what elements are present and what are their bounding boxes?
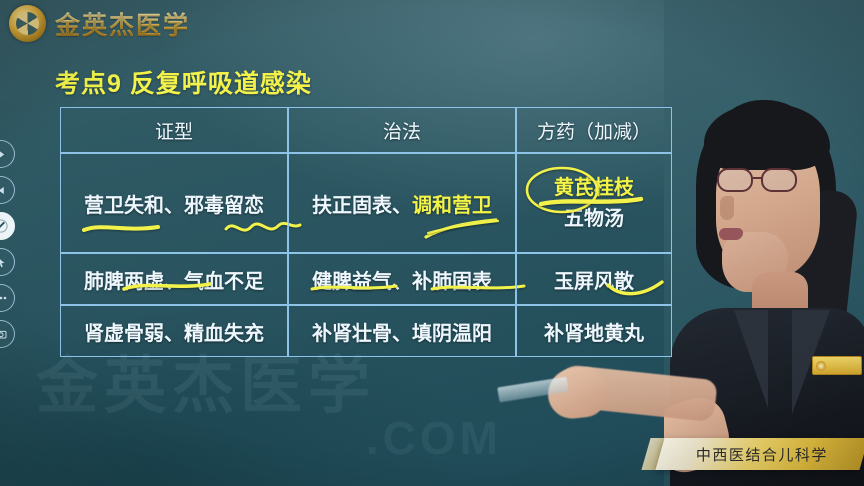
cell-therapy-3: 补肾壮骨、填阴温阳	[288, 305, 516, 357]
column-header-syndrome: 证型	[60, 107, 288, 153]
cell-therapy-2: 健脾益气、补肺固表	[288, 253, 516, 305]
underline-under-yingwei	[78, 219, 178, 237]
cell-formula-1: 黄芪桂枝 五物汤	[516, 153, 672, 253]
pen-tool-button[interactable]	[0, 212, 15, 240]
course-banner-label: 中西医结合儿科学	[696, 444, 828, 465]
capture-button[interactable]	[0, 320, 15, 348]
syndrome-text-1: 营卫失和、邪毒留恋	[84, 195, 264, 217]
cell-formula-2: 玉屏风散	[516, 253, 672, 305]
table-row: 营卫失和、邪毒留恋 扶正固表、调和营卫	[60, 153, 672, 253]
page-title: 考点9 反复呼吸道感染	[55, 64, 312, 100]
pointer-tool-button[interactable]	[0, 248, 15, 276]
watermark-text: 金英杰医学	[36, 352, 376, 421]
watermark-domain: .COM	[36, 417, 506, 461]
circular-gold-emblem-icon	[9, 5, 46, 42]
cell-syndrome-1: 营卫失和、邪毒留恋	[60, 153, 288, 253]
cell-formula-3: 补肾地黄丸	[516, 305, 672, 357]
check-underline-under-tiaoheyingwei	[420, 217, 524, 243]
play-left-icon	[0, 185, 7, 196]
course-banner: 中西医结合儿科学	[655, 438, 864, 470]
camera-icon	[0, 329, 7, 339]
table-row: 肺脾两虚、气血不足 健脾益气、补肺固表	[60, 253, 672, 305]
syndrome-text-2: 肺脾两虚、气血不足	[84, 271, 264, 293]
glasses-bridge	[753, 177, 762, 179]
brand-name: 金英杰医学	[55, 6, 190, 42]
lens-right	[761, 168, 797, 192]
prev-page-button[interactable]	[0, 176, 15, 204]
lens-left	[717, 168, 753, 192]
therapy-text-1: 扶正固表、	[312, 195, 412, 217]
slide-stage: 金英杰医学 .COM 金英杰医学	[0, 0, 864, 486]
table-row: 肾虚骨弱、精血失充 补肾壮骨、填阴温阳 补肾地黄丸	[60, 305, 672, 357]
mouth	[719, 228, 743, 240]
cursor-arrow-icon	[0, 256, 7, 268]
syndrome-table: 证型 治法 方药（加减） 营卫失和、邪毒留恋 扶正固表、调和营卫	[60, 107, 672, 357]
pen-icon	[0, 219, 8, 233]
column-header-therapy: 治法	[288, 107, 516, 153]
more-options-button[interactable]	[0, 284, 15, 312]
therapy-highlight-1: 调和营卫	[412, 195, 492, 217]
column-header-formula: 方药（加减）	[516, 107, 672, 153]
ellipsis-icon	[0, 295, 8, 301]
formula-text-1b: 五物汤	[564, 208, 624, 230]
cell-therapy-1: 扶正固表、调和营卫	[288, 153, 516, 253]
background-watermark: 金英杰医学 .COM	[36, 358, 506, 461]
play-right-icon	[0, 149, 7, 160]
next-page-button[interactable]	[0, 140, 15, 168]
table-header-row: 证型 治法 方药（加减）	[60, 107, 672, 153]
formula-highlight-1: 黄芪桂枝	[554, 177, 634, 199]
cell-syndrome-2: 肺脾两虚、气血不足	[60, 253, 288, 305]
eyeglasses-icon	[717, 168, 803, 194]
gold-name-badge	[812, 356, 862, 375]
cell-syndrome-3: 肾虚骨弱、精血失充	[60, 305, 288, 357]
brand-logo: 金英杰医学	[9, 5, 190, 42]
formula-text-2: 玉屏风散	[554, 271, 634, 293]
nose	[720, 196, 734, 220]
therapy-text-2: 健脾益气、补肺固表	[312, 271, 492, 293]
left-toolbar[interactable]	[0, 140, 15, 348]
